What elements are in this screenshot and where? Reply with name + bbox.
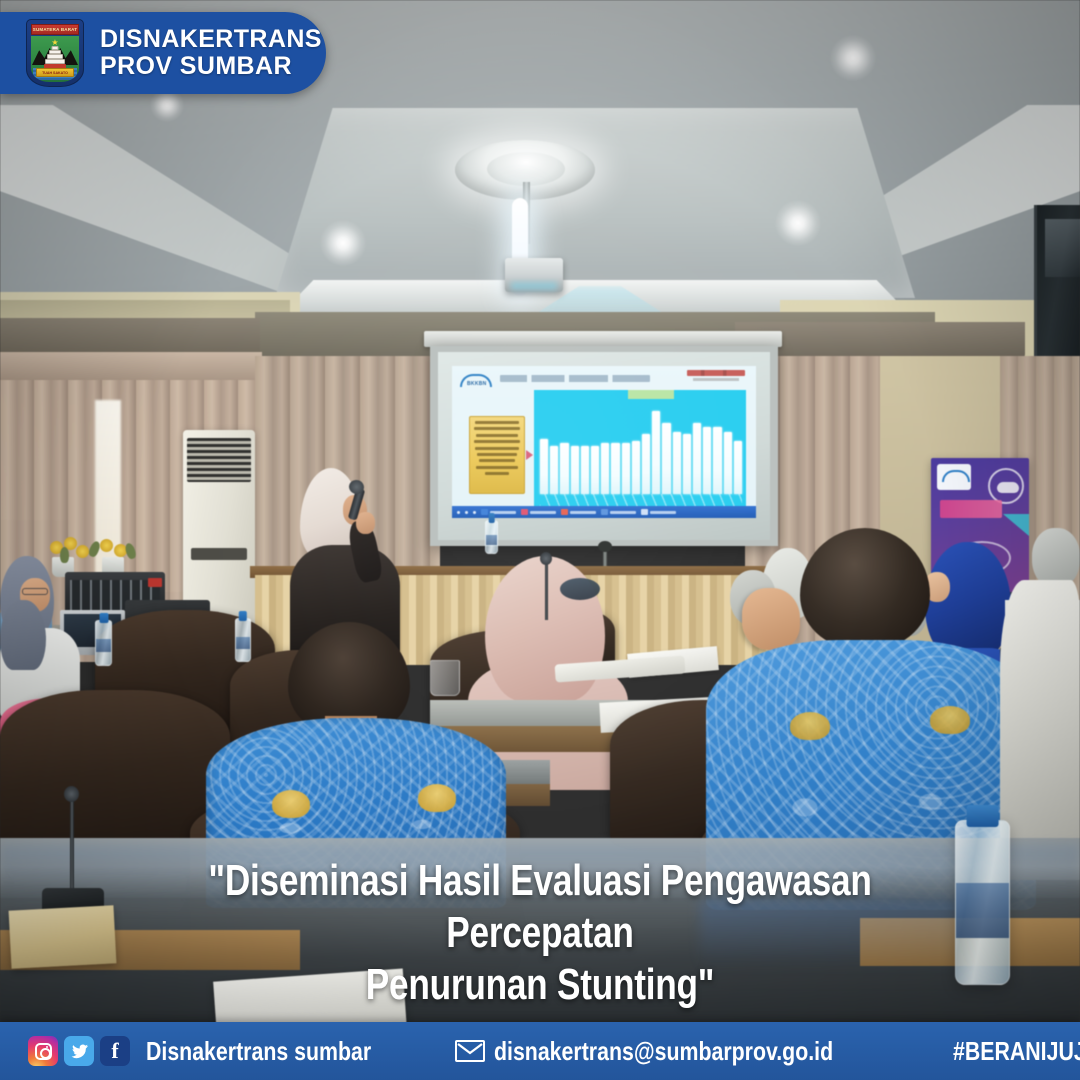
chart-bar: [571, 446, 579, 494]
batik-motif-badge: [272, 790, 310, 818]
ac-grille: [187, 438, 251, 482]
ceiling-spotlight: [830, 35, 876, 81]
chart-bar: [611, 443, 619, 494]
caption-line-1: "Diseminasi Hasil Evaluasi Pengawasan Pe…: [140, 855, 940, 959]
banner-cloud-icon: [988, 468, 1024, 504]
batik-motif-badge: [418, 784, 456, 812]
microphone-head-icon: [64, 786, 79, 802]
chart-bar: [632, 441, 640, 494]
chart-bars: [540, 402, 742, 494]
emblem-shield: ★ TUAH SAKATO: [31, 36, 79, 82]
ceiling-rose-inner: [487, 152, 565, 186]
taskbar-item: [561, 509, 596, 515]
chart-bar: [693, 423, 701, 494]
slide-bar-chart: [534, 390, 746, 508]
water-bottle: [485, 520, 498, 554]
flower-arrangement: [40, 535, 150, 577]
chart-bar: [724, 432, 732, 494]
banner-headline: [940, 500, 1002, 518]
footer-bar: f Disnakertrans sumbar disnakertrans@sum…: [0, 1022, 1080, 1080]
chart-bar: [673, 432, 681, 494]
bkkbn-logo-icon: BKKBN: [460, 372, 494, 390]
callout-pointer-icon: [526, 450, 533, 460]
chart-bar: [622, 443, 630, 494]
taskbar-item: [521, 509, 556, 515]
ac-vent: [191, 548, 247, 560]
twitter-icon[interactable]: [64, 1036, 94, 1066]
ceiling-spotlight: [320, 220, 366, 266]
chart-bar: [683, 434, 691, 494]
hashtag-text: #BERANIJUJURHEBAT#: [953, 1036, 1080, 1067]
drinking-glass: [430, 660, 460, 696]
water-bottle: [95, 620, 112, 666]
chart-bar: [662, 423, 670, 494]
chart-bar: [652, 411, 660, 494]
attendee-body: [1000, 580, 1080, 880]
email-block: disnakertrans@sumbarprov.go.id: [455, 1036, 908, 1067]
attendee-head: [0, 600, 46, 670]
curtain-valance-left: [0, 352, 262, 380]
header-badge: SUMATERA BARAT ★ TUAH SAKATO DISNAKERTRA…: [0, 12, 326, 94]
chart-bar: [591, 446, 599, 494]
banner-accent-shape: [1003, 514, 1029, 536]
chart-bar: [734, 441, 742, 494]
social-handle: Disnakertrans sumbar: [146, 1036, 371, 1067]
projection-screen-case: [424, 331, 782, 347]
ceiling-tray: [275, 108, 915, 298]
chart-bar: [601, 443, 609, 494]
attendee-hand: [742, 588, 800, 650]
microphone-head-icon: [540, 552, 552, 565]
header-line-1: DISNAKERTRANS: [100, 26, 322, 53]
header-text: DISNAKERTRANS PROV SUMBAR: [100, 26, 322, 80]
batik-motif-badge: [790, 712, 830, 740]
slide-title-text: [500, 375, 650, 382]
mixer-indicator: [148, 578, 162, 587]
facebook-icon[interactable]: f: [100, 1036, 130, 1066]
ceiling-spotlight: [775, 200, 821, 246]
attendee-head: [1032, 528, 1080, 588]
header-line-2: PROV SUMBAR: [100, 53, 322, 80]
chart-highlight-label: [628, 390, 674, 399]
screen-pull-handle: [598, 541, 612, 552]
chart-bar: [703, 427, 711, 494]
presentation-slide: BKKBN: [452, 366, 756, 518]
desk-lamp: [560, 578, 600, 600]
chart-bar: [550, 446, 558, 494]
social-media-post: BKKBN: [0, 0, 1080, 1080]
taskbar-item: [641, 509, 676, 515]
caption-overlay: "Diseminasi Hasil Evaluasi Pengawasan Pe…: [0, 855, 1080, 1011]
envelope-icon: [455, 1040, 485, 1062]
program-wordmark-icon: [687, 370, 749, 384]
curtain-pelmet-left: [0, 318, 260, 356]
instagram-icon[interactable]: [28, 1036, 58, 1066]
emblem-ribbon: TUAH SAKATO: [36, 68, 74, 77]
chart-bar: [713, 427, 721, 494]
banner-logo-icon: [937, 464, 971, 490]
chart-bar: [642, 434, 650, 494]
eyeglasses-icon: [22, 588, 48, 595]
emblem-top-banner: SUMATERA BARAT: [31, 24, 79, 35]
taskbar-item: [601, 509, 636, 515]
presenter-hand: [356, 512, 375, 534]
emblem-top-text: SUMATERA BARAT: [33, 27, 77, 32]
email-address: disnakertrans@sumbarprov.go.id: [494, 1036, 833, 1067]
chart-bar: [560, 443, 568, 494]
table-microphone: [545, 560, 548, 620]
chart-bar: [540, 439, 548, 494]
water-bottle: [235, 618, 251, 662]
projector-icon: [505, 258, 563, 292]
west-sumatra-coat-of-arms-icon: SUMATERA BARAT ★ TUAH SAKATO: [26, 19, 84, 87]
emblem-ribbon-text: TUAH SAKATO: [42, 71, 68, 75]
social-icons: f Disnakertrans sumbar: [28, 1036, 421, 1067]
slide-callout-box: [469, 416, 525, 494]
chart-bar: [581, 446, 589, 494]
batik-motif-badge: [930, 706, 970, 734]
taskbar-item: [481, 509, 516, 515]
caption-line-2: Penurunan Stunting": [140, 959, 940, 1011]
slide-taskbar: [452, 506, 756, 518]
